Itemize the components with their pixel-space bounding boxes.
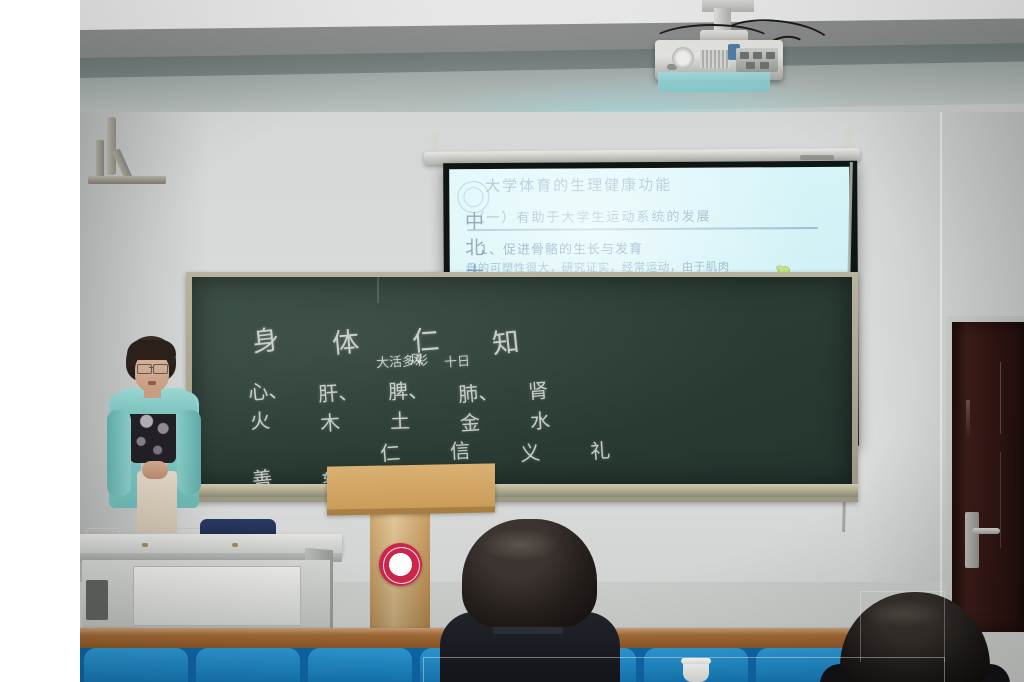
door-highlight [966,400,970,440]
door-panel-upper [1000,362,1024,434]
projector-lamp-glow [658,72,770,92]
projector-vent-grille [700,50,730,68]
door-lock-plate[interactable] [965,512,979,568]
chalkboard-seam [377,277,379,303]
paper-cup-rim [681,658,711,664]
projector-port-panel [736,48,778,72]
instructor-arm-left [107,410,131,496]
projector-light-spill [400,70,870,118]
door-handle[interactable] [972,528,1000,534]
wall-bracket-base [88,176,166,184]
projector-port-audio [746,62,755,69]
instructor-arm-right [177,410,201,494]
eyeglasses-lens-right-icon [153,364,168,374]
seat[interactable] [308,648,412,682]
instructor [97,336,209,541]
projector-port-vga [740,52,749,59]
instructor-hands [142,461,168,479]
console-latch-left[interactable] [142,543,148,547]
wall-corner-seam [940,112,942,612]
instructor-mouth [148,381,156,385]
chalk-tray [186,484,858,497]
eyeglasses-bridge-icon [149,367,154,368]
left-white-band [0,0,80,682]
wall-bracket-post-secondary [96,140,104,178]
wall-bracket-post [107,117,116,175]
console-latch-right[interactable] [232,543,238,547]
university-emblem-character: 中 [391,553,410,576]
screen-mount-hook-right [845,128,852,150]
instructor-fringe [127,340,176,360]
seat[interactable] [196,648,300,682]
projector-lens [672,47,694,69]
screen-roller-label [800,155,834,160]
classroom-photo: 中北大学 大学体育的生理健康功能 （一）有助于大学生运动系统的发展 1、促进骨骼… [0,0,1024,682]
student-hair-highlight [480,528,560,562]
projector-port-power [766,52,775,59]
seat[interactable] [84,648,188,682]
student-hair-highlight [862,600,946,628]
instructor-skirt [137,471,177,533]
projector-port-usb [760,62,769,69]
door-panel-lower [1000,452,1024,548]
av-console-front-panel[interactable] [133,566,301,626]
chalkboard-sheen [192,277,852,485]
eyeglasses-lens-left-icon [137,364,152,374]
projector-port-hdmi [753,52,762,59]
av-console-equipment [86,580,108,620]
